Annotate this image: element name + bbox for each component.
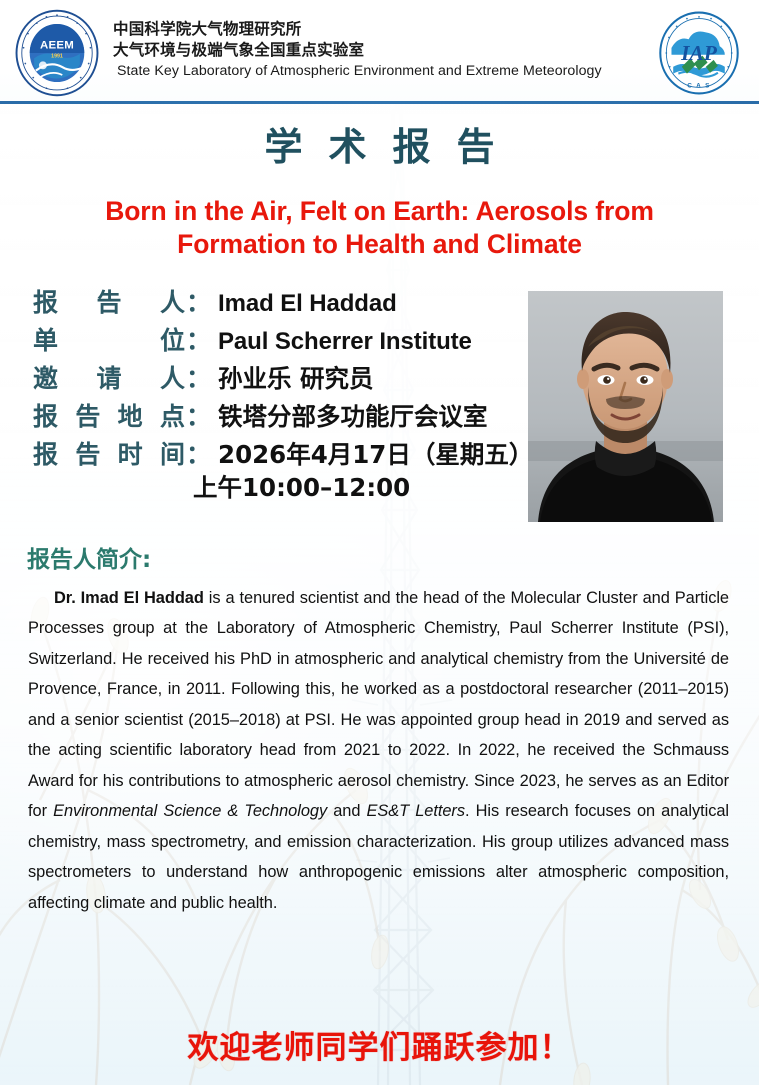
poster-body: 学术报告 Born in the Air, Felt on Earth: Aer… — [0, 127, 759, 918]
bio-part-one: is a tenured scientist and the head of t… — [28, 589, 729, 821]
info-colon: ： — [185, 321, 218, 357]
lab-name-en: State Key Laboratory of Atmospheric Envi… — [113, 61, 602, 82]
info-value-date: 2026年4月17日（星期五） — [218, 436, 533, 471]
speaker-portrait-photo — [528, 291, 723, 522]
info-row-affiliation: 单位 ： Paul Scherrer Institute — [33, 321, 523, 359]
aeem-logo: AEEM 1991 — [13, 9, 101, 97]
info-colon: ： — [185, 283, 218, 319]
info-label-venue: 报告地点 — [33, 397, 185, 433]
info-label-affiliation: 单位 — [33, 321, 185, 357]
bio-journal-one: Environmental Science & Technology — [53, 802, 327, 820]
bio-heading: 报告人简介: — [27, 540, 759, 574]
institute-name-cn: 中国科学院大气物理研究所 — [113, 19, 602, 40]
poster-header: AEEM 1991 中国科学院大气物理研究所 大气环境与极端气象全国重点实验室 … — [0, 0, 759, 103]
svg-text:C A S: C A S — [687, 82, 711, 89]
talk-title: Born in the Air, Felt on Earth: Aerosols… — [44, 195, 715, 261]
info-row-venue: 报告地点 ： 铁塔分部多功能厅会议室 — [33, 397, 523, 435]
bio-text: Dr. Imad El Haddad is a tenured scientis… — [28, 583, 729, 919]
header-divider — [0, 101, 759, 104]
info-value-host: 孙业乐 研究员 — [218, 360, 374, 395]
info-label-speaker: 报告人 — [33, 283, 185, 319]
seminar-poster: AEEM 1991 中国科学院大气物理研究所 大气环境与极端气象全国重点实验室 … — [0, 0, 759, 1085]
seminar-title: 学术报告 — [0, 127, 759, 169]
info-value-speaker: Imad El Haddad — [218, 290, 397, 318]
info-value-affiliation: Paul Scherrer Institute — [218, 328, 472, 356]
speaker-info-list: 报告人 ： Imad El Haddad 单位 ： Paul Scherrer … — [33, 283, 523, 507]
info-colon: ： — [185, 397, 218, 433]
organization-names: 中国科学院大气物理研究所 大气环境与极端气象全国重点实验室 State Key … — [113, 19, 602, 82]
info-row-speaker: 报告人 ： Imad El Haddad — [33, 283, 523, 321]
info-value-time: 上午10:00–12:00 — [193, 473, 523, 507]
info-label-datetime: 报告时间 — [33, 435, 185, 471]
lab-name-cn: 大气环境与极端气象全国重点实验室 — [113, 40, 602, 61]
bio-journal-two: ES&T Letters — [367, 802, 465, 820]
info-value-venue: 铁塔分部多功能厅会议室 — [218, 398, 488, 433]
svg-text:IAP: IAP — [680, 41, 718, 65]
svg-text:1991: 1991 — [51, 53, 63, 59]
info-row-datetime: 报告时间 ： 2026年4月17日（星期五） — [33, 435, 523, 473]
welcome-message: 欢迎老师同学们踊跃参加！ — [0, 1022, 759, 1067]
info-colon: ： — [185, 359, 218, 395]
iap-cas-logo: IAP C A S — [655, 10, 743, 96]
info-label-host: 邀请人 — [33, 359, 185, 395]
speaker-info-section: 报告人 ： Imad El Haddad 单位 ： Paul Scherrer … — [0, 283, 759, 528]
svg-text:AEEM: AEEM — [40, 40, 74, 52]
bio-conjunction: and — [327, 802, 366, 820]
info-row-host: 邀请人 ： 孙业乐 研究员 — [33, 359, 523, 397]
bio-lead-name: Dr. Imad El Haddad — [28, 589, 204, 607]
portrait-illustration — [528, 291, 723, 522]
info-colon: ： — [185, 435, 218, 471]
